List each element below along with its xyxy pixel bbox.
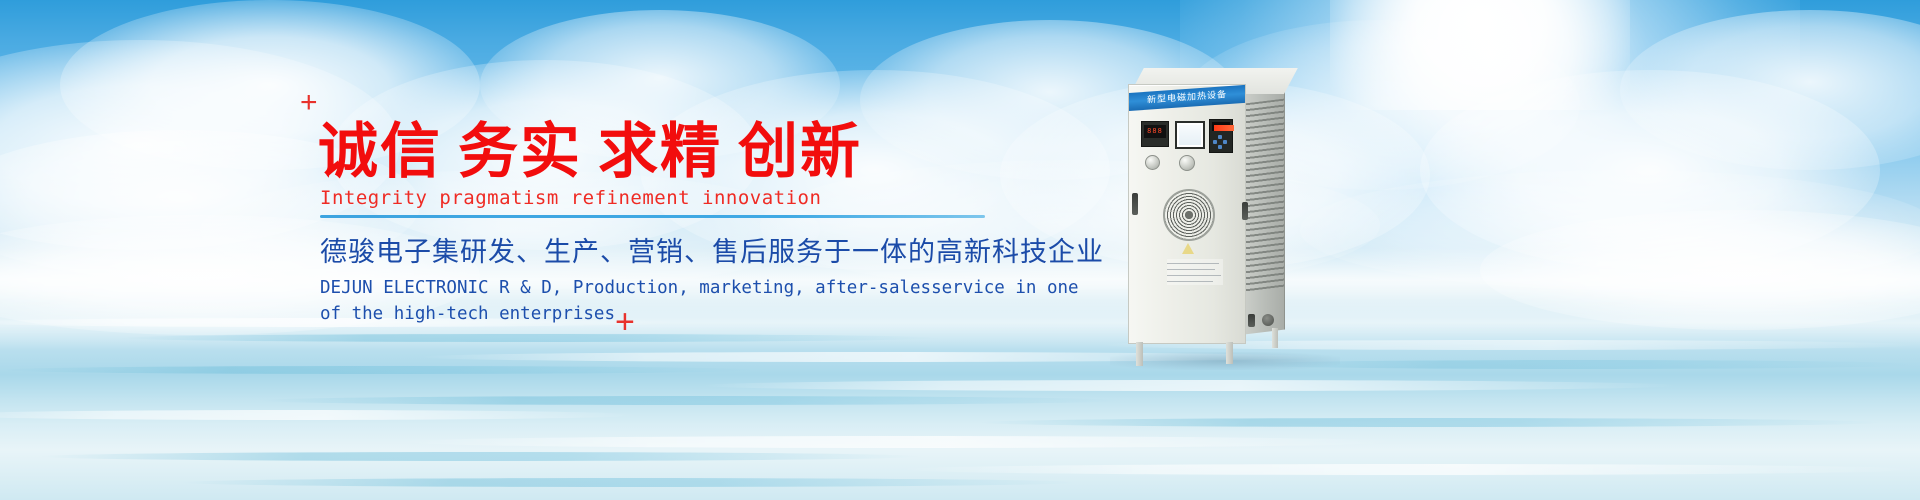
divider-line <box>320 215 985 218</box>
meter-digits: 888 <box>1144 125 1166 138</box>
machine-leg-rear <box>1272 328 1278 348</box>
machine-leg-right <box>1226 342 1233 364</box>
keypad-button-right <box>1223 140 1227 144</box>
headline-word-1: 诚信 <box>318 117 442 187</box>
machine-front-panel: 新型电磁加热设备 888 <box>1128 84 1246 344</box>
analog-meter-face <box>1179 125 1201 145</box>
company-description-en-line1: DEJUN ELECTRONIC R & D, Production, mark… <box>320 275 1079 301</box>
fan-hub <box>1185 211 1193 219</box>
machine-leg-left <box>1136 342 1143 366</box>
headline-slogan-english: Integrity pragmatism refinement innovati… <box>320 186 821 210</box>
label-line <box>1167 263 1219 264</box>
adjust-knob <box>1179 155 1195 171</box>
keypad-button-left <box>1213 140 1217 144</box>
company-description-en-line2: of the high-tech enterprises <box>320 301 1079 327</box>
machine-handle <box>1132 193 1138 215</box>
machine-side-handle <box>1242 202 1248 220</box>
keypad-led-display <box>1212 122 1230 131</box>
plus-mark-top: + <box>300 88 318 118</box>
machine-side-vents <box>1240 99 1284 294</box>
meter-screen: 888 <box>1144 125 1166 138</box>
headline-word-3: 求精 <box>598 117 722 187</box>
headline-slogan: 诚信务实求精创新 <box>318 118 862 186</box>
headline-word-4: 创新 <box>738 117 862 187</box>
label-line <box>1167 275 1221 276</box>
machine-banner-label: 新型电磁加热设备 <box>1129 85 1245 111</box>
fan-grille-icon <box>1163 189 1215 241</box>
keypad-led-bar <box>1214 125 1234 131</box>
machine-side-latch <box>1248 314 1255 327</box>
company-description-cn: 德骏电子集研发、生产、营销、售后服务于一体的高新科技企业 <box>320 234 1104 272</box>
label-line <box>1167 281 1213 282</box>
keypad-button-up <box>1218 135 1222 139</box>
control-keypad <box>1209 119 1233 153</box>
keypad-button-down <box>1218 145 1222 149</box>
power-knob <box>1145 155 1160 170</box>
machine-power-socket <box>1262 314 1274 326</box>
analog-current-meter <box>1175 121 1205 149</box>
warning-triangle-icon <box>1182 243 1194 254</box>
digital-temperature-meter: 888 <box>1141 121 1169 147</box>
product-image-heating-machine: 新型电磁加热设备 888 <box>1122 62 1322 362</box>
machine-spec-label <box>1167 259 1223 285</box>
company-description-en: DEJUN ELECTRONIC R & D, Production, mark… <box>320 275 1079 327</box>
headline-word-2: 务实 <box>458 117 582 187</box>
hero-banner: + + 诚信务实求精创新 Integrity pragmatism refine… <box>0 0 1920 500</box>
label-line <box>1167 269 1215 270</box>
